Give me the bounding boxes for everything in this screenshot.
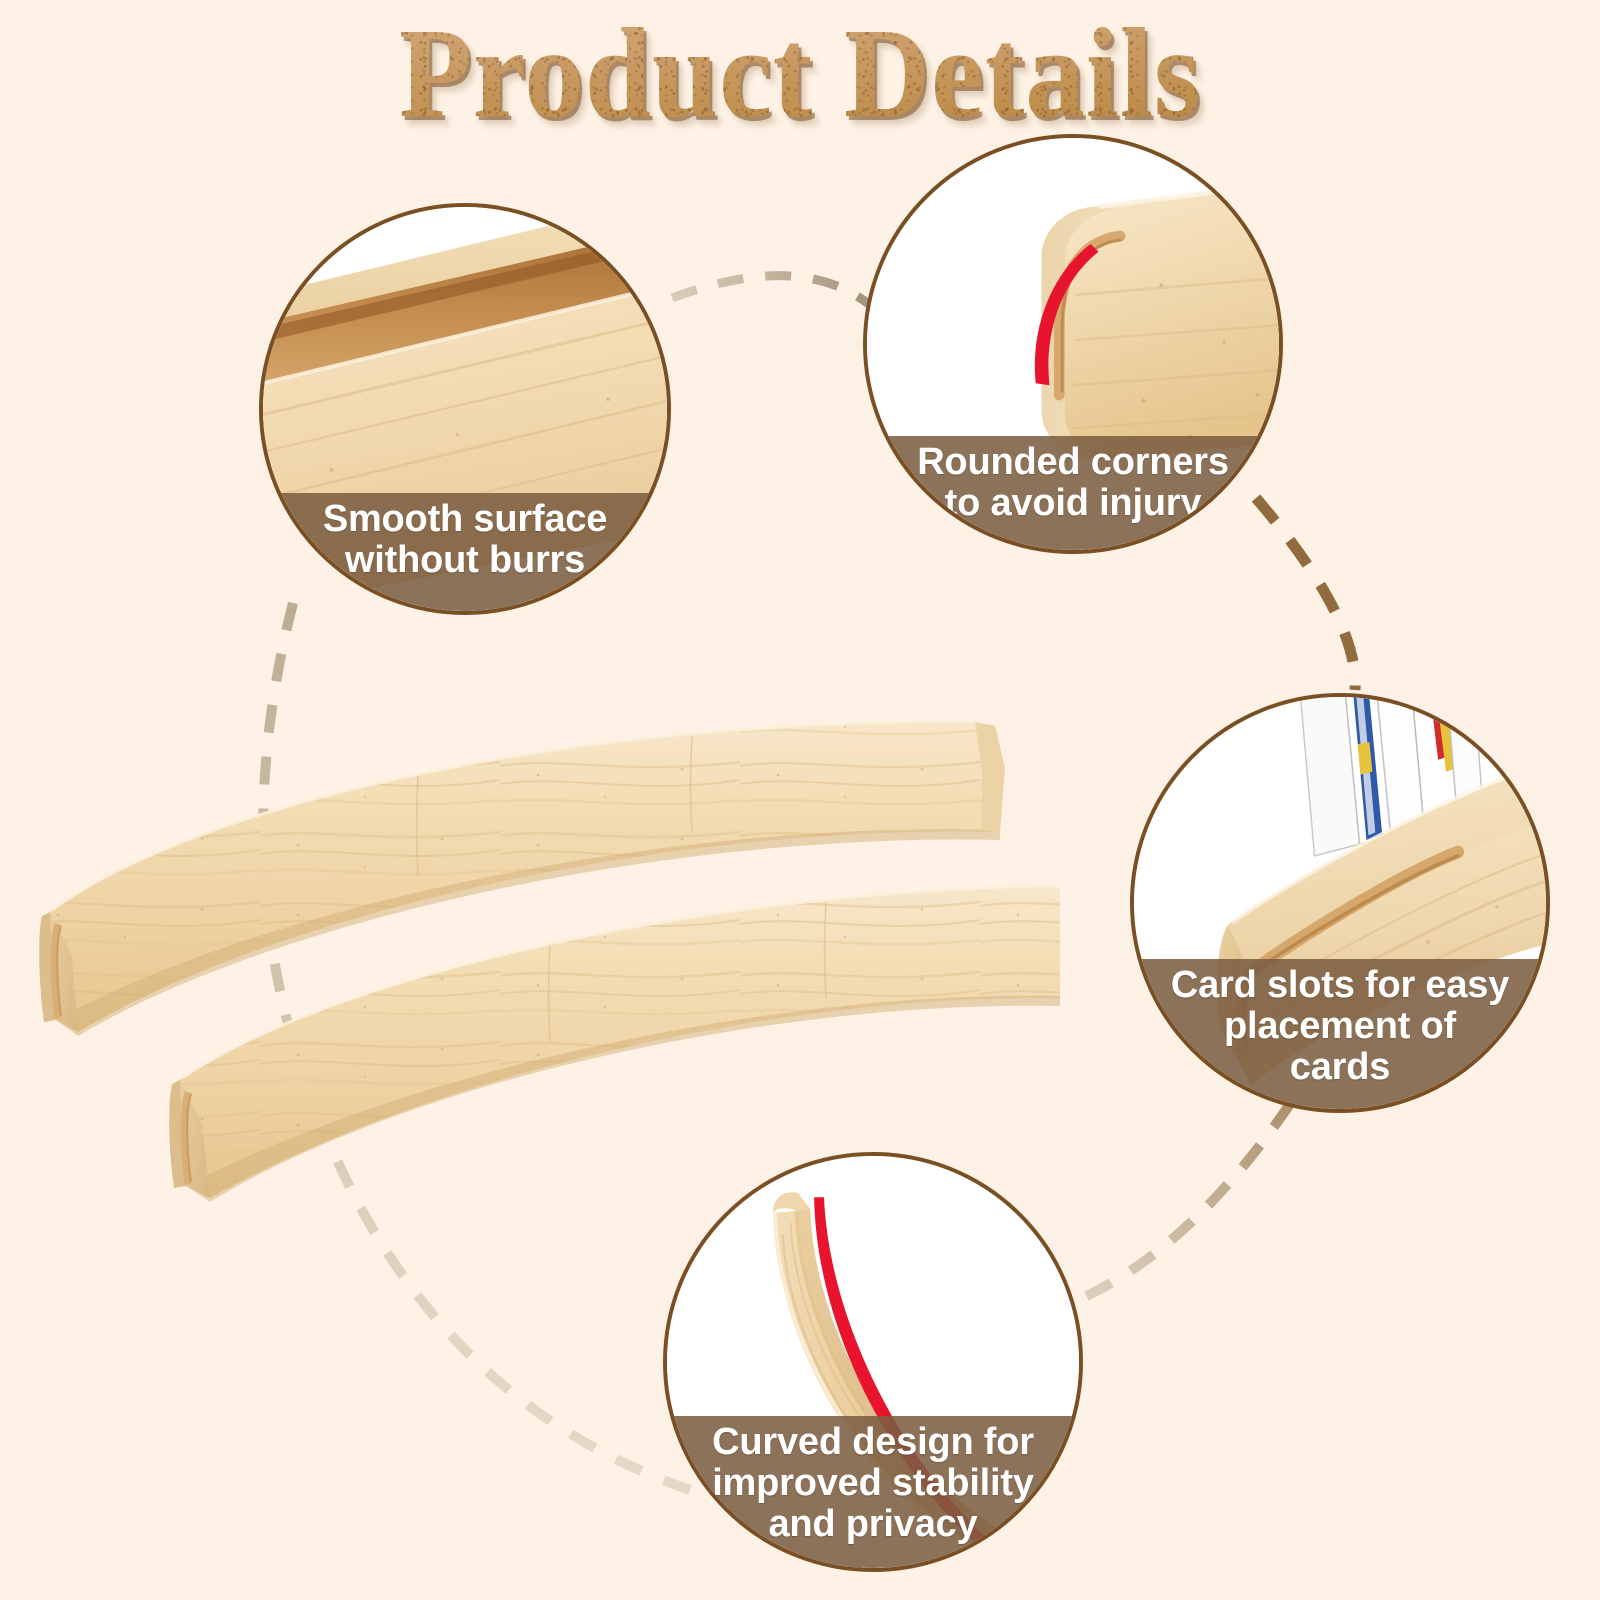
caption-line-2: placement of: [1224, 1005, 1456, 1047]
callout-curved-caption: Curved design for improved stability and…: [667, 1416, 1079, 1568]
caption-line-3: cards: [1290, 1046, 1390, 1088]
caption-line-2: improved stability: [712, 1462, 1034, 1504]
caption-line-2: without burrs: [345, 539, 585, 581]
caption-line-1: Rounded corners: [917, 441, 1229, 483]
caption-line-1: Card slots for easy: [1171, 964, 1509, 1006]
callout-curved-design[interactable]: Curved design for improved stability and…: [663, 1152, 1083, 1572]
connector-arc-smooth-to-rounded: [672, 276, 870, 305]
caption-line-1: Smooth surface: [323, 498, 607, 540]
callout-slots-caption: Card slots for easy placement of cards: [1134, 959, 1546, 1109]
connector-arc-slots-to-curved: [1078, 1104, 1290, 1300]
callout-card-slots[interactable]: Card slots for easy placement of cards: [1130, 693, 1550, 1113]
callout-rounded-caption: Rounded corners to avoid injury: [867, 436, 1279, 550]
callout-smooth-surface[interactable]: Smooth surface without burrs: [259, 203, 671, 615]
caption-line-2: to avoid injury: [945, 482, 1202, 524]
callout-smooth-caption: Smooth surface without burrs: [263, 493, 667, 611]
caption-line-1: Curved design for: [712, 1421, 1034, 1463]
caption-line-3: and privacy: [768, 1503, 977, 1545]
callout-rounded-corners[interactable]: Rounded corners to avoid injury: [863, 134, 1283, 554]
